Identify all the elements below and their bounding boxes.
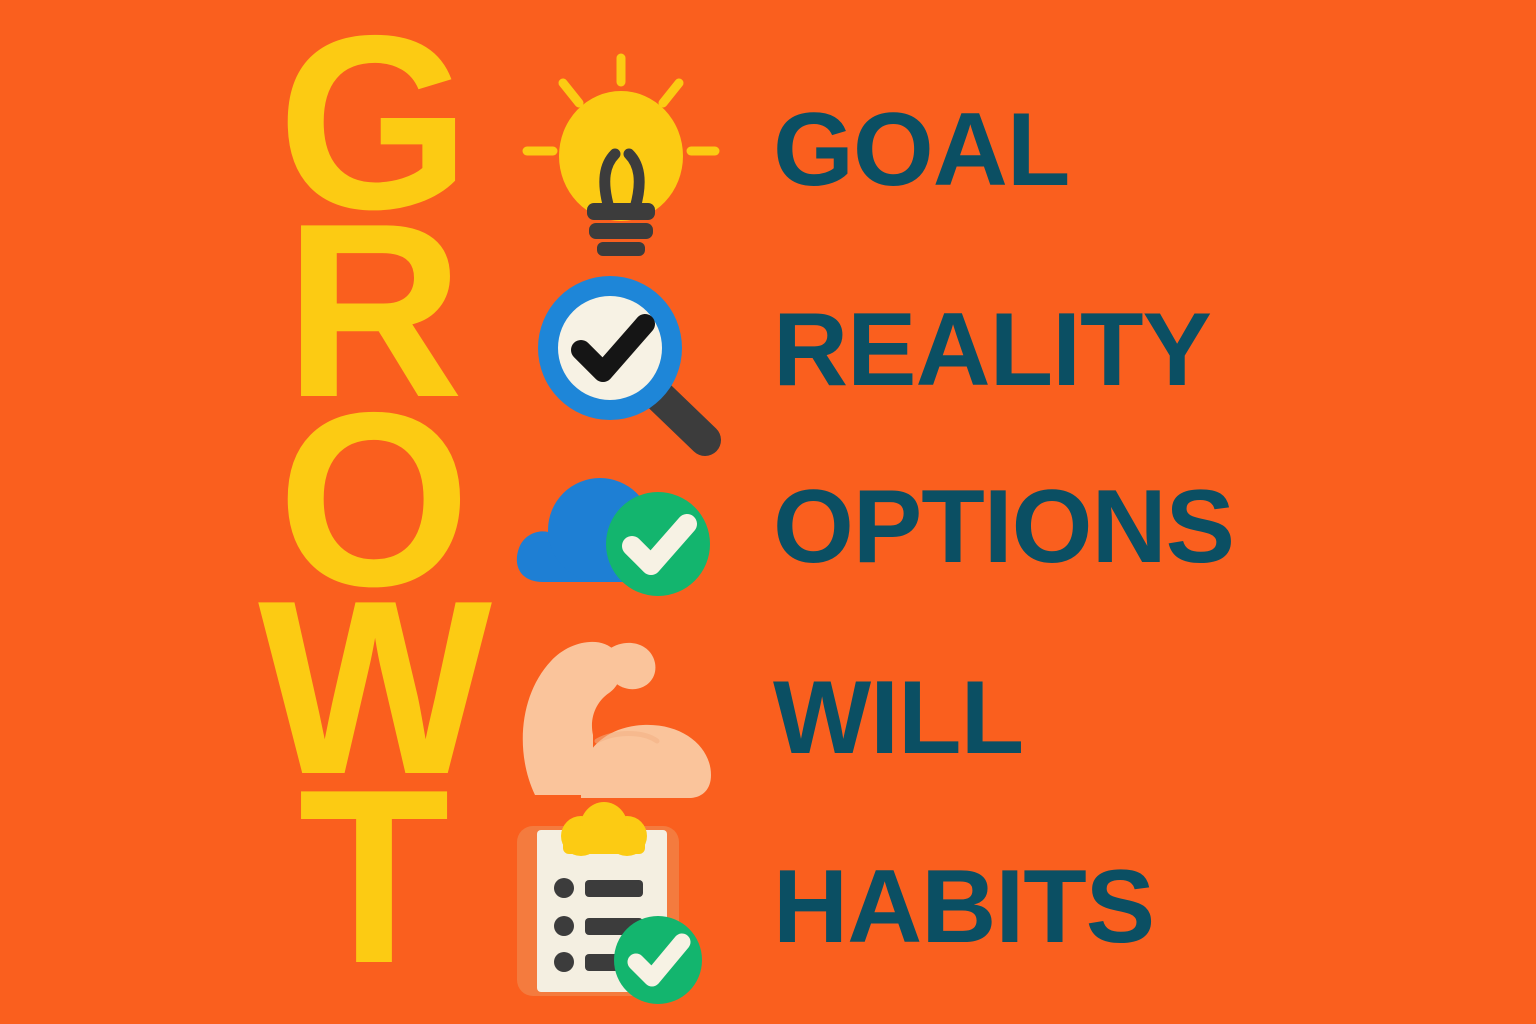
row-will: WILL: [505, 635, 1023, 800]
clipboard-checklist-check-icon: [505, 812, 725, 1002]
flexed-biceps-icon: [505, 635, 725, 800]
label-options: OPTIONS: [773, 475, 1234, 579]
growth-acrostic-column: G R O W T: [258, 28, 488, 998]
label-reality: REALITY: [773, 298, 1211, 402]
label-goal: GOAL: [773, 98, 1069, 202]
row-habits: HABITS: [505, 812, 1154, 1002]
light-bulb-icon: [505, 50, 725, 250]
poster-canvas: G R O W T: [0, 0, 1536, 1024]
label-habits: HABITS: [773, 855, 1154, 959]
magnifying-glass-check-icon: [505, 250, 725, 450]
row-options: OPTIONS: [505, 452, 1234, 602]
row-reality: REALITY: [505, 250, 1211, 450]
row-goal: GOAL: [505, 50, 1069, 250]
label-will: WILL: [773, 666, 1023, 770]
acrostic-letter-t: T: [258, 782, 488, 970]
cloud-check-icon: [505, 452, 725, 602]
